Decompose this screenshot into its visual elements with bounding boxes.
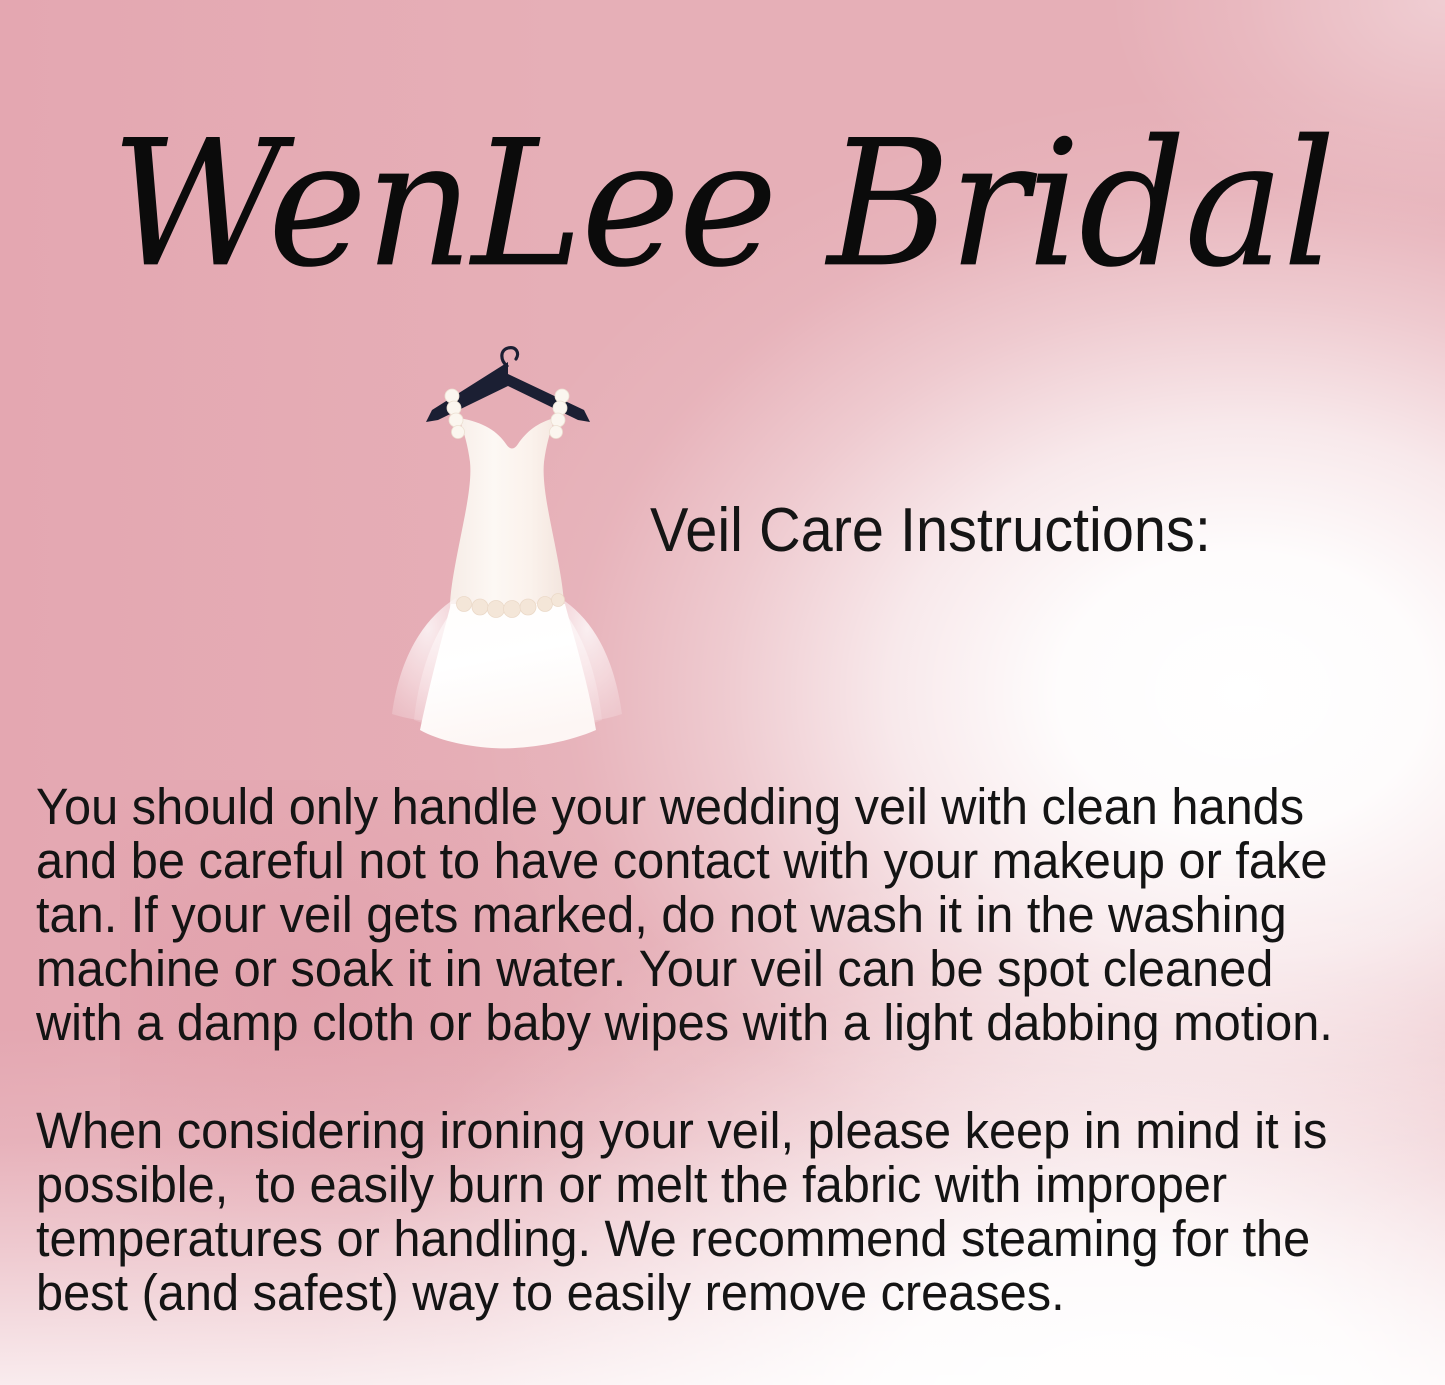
care-paragraph-1: You should only handle your wedding veil… bbox=[36, 780, 1346, 1050]
page-title: Veil Care Instructions: bbox=[650, 495, 1320, 566]
wedding-dress-on-hanger-icon bbox=[388, 326, 628, 756]
care-instructions-body: You should only handle your wedding veil… bbox=[36, 780, 1408, 1320]
veil-care-instructions-card: WenLee Bridal bbox=[0, 0, 1445, 1385]
brand-logo-text: WenLee Bridal bbox=[111, 117, 1334, 292]
brand-logo: WenLee Bridal bbox=[0, 120, 1445, 350]
care-paragraph-2: When considering ironing your veil, plea… bbox=[36, 1104, 1346, 1320]
